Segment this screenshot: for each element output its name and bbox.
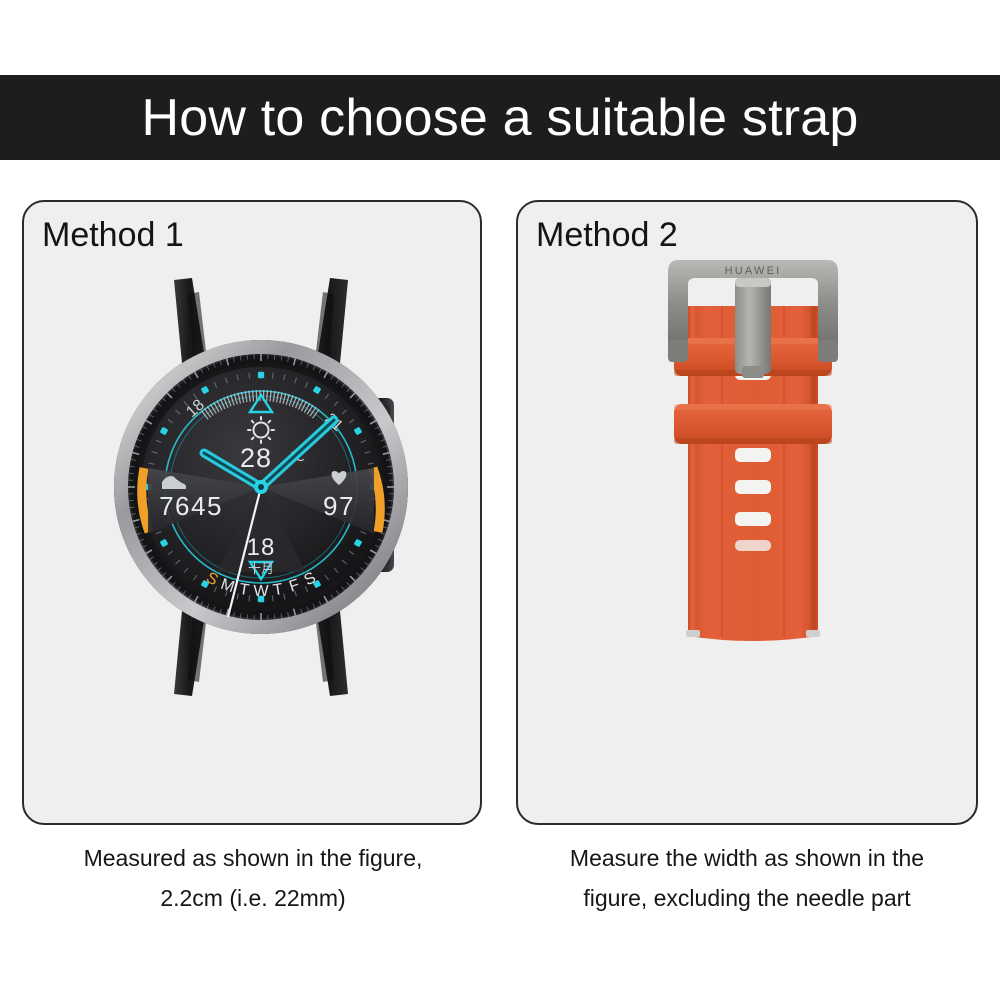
method-2-illustration: HUAWEI <box>518 202 976 823</box>
method-1-caption-line1: Measured as shown in the figure, <box>84 845 423 871</box>
strap-keeper-loop-2 <box>674 404 832 444</box>
watch-illustration: 246810121416182022 18 21 <box>96 272 426 702</box>
method-2-caption-line1: Measure the width as shown in the <box>570 845 924 871</box>
title-banner: How to choose a suitable strap <box>0 75 1000 160</box>
method-1-caption: Measured as shown in the figure, 2.2cm (… <box>18 838 488 919</box>
method-2-caption: Measure the width as shown in the figure… <box>512 838 982 919</box>
buckle-tongue <box>735 278 771 374</box>
method-1-panel: Method 1 <box>22 200 482 825</box>
strap-svg: HUAWEI <box>638 254 868 694</box>
watch-temperature: 28 <box>240 443 272 473</box>
watch-svg: 246810121416182022 18 21 <box>96 272 426 702</box>
strap-illustration: HUAWEI <box>638 254 868 694</box>
watch-date-day: 18 <box>247 534 276 561</box>
method-2-panel: Method 2 <box>516 200 978 825</box>
watch-heart-rate: 97 <box>323 491 355 521</box>
method-2-caption-line2: figure, excluding the needle part <box>512 878 982 918</box>
method-1-caption-line2: 2.2cm (i.e. 22mm) <box>18 878 488 918</box>
buckle-brand-text: HUAWEI <box>725 265 782 277</box>
page-title: How to choose a suitable strap <box>141 88 858 148</box>
method-1-illustration: 246810121416182022 18 21 <box>24 202 480 823</box>
watch-weekday-3: W <box>253 583 269 600</box>
watch-steps: 7645 <box>159 491 223 521</box>
watch-date-month: 十月 <box>248 561 274 576</box>
page-root: How to choose a suitable strap Method 1 <box>0 0 1000 1000</box>
